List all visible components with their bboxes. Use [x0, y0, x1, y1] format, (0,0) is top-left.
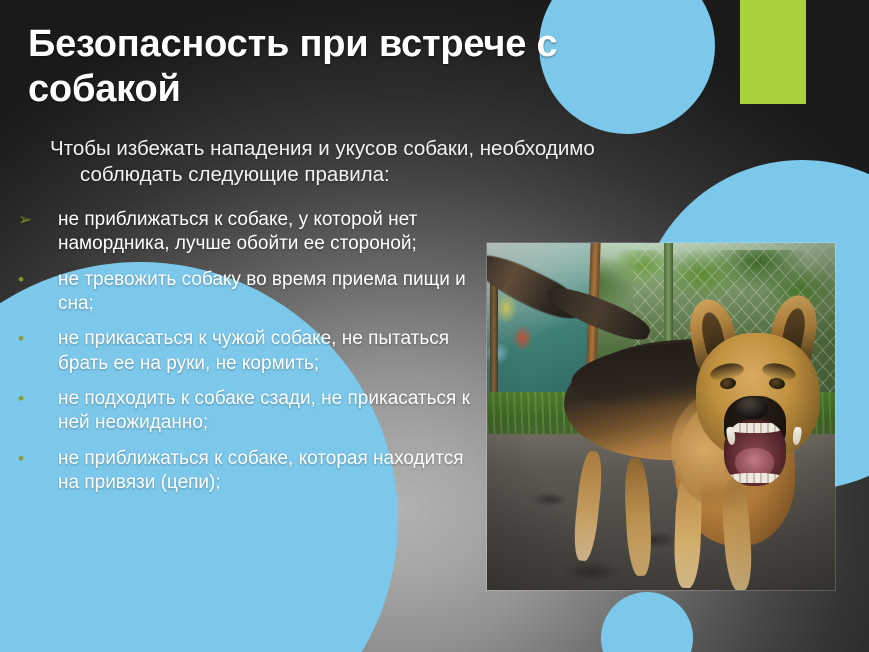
- dot-bullet-icon: •: [14, 447, 58, 472]
- dot-bullet-icon: •: [14, 327, 58, 352]
- photo-scene: [487, 243, 835, 590]
- dog-photograph: [487, 243, 835, 590]
- decorative-green-rectangle: [740, 0, 806, 104]
- arrow-bullet-icon: ➢: [14, 208, 58, 233]
- dot-bullet-icon: •: [14, 387, 58, 412]
- slide-title: Безопасность при встрече с собакой: [28, 22, 678, 112]
- rules-bullet-list: ➢ не приближаться к собаке, у которой не…: [14, 208, 476, 506]
- list-item-text: не подходить к собаке сзади, не прикасат…: [58, 387, 476, 436]
- dog-lower-teeth: [727, 473, 782, 484]
- list-item: • не тревожить собаку во время приема пи…: [14, 268, 476, 317]
- list-item-text: не приближаться к собаке, которая находи…: [58, 447, 476, 496]
- dog-nose: [736, 397, 768, 419]
- slide-subtitle: Чтобы избежать нападения и укусов собаки…: [50, 136, 710, 188]
- dot-bullet-icon: •: [14, 268, 58, 293]
- list-item-text: не приближаться к собаке, у которой нет …: [58, 208, 476, 257]
- subtitle-line-2: соблюдать следующие правила:: [50, 162, 710, 188]
- list-item: • не прикасаться к чужой собаке, не пыта…: [14, 327, 476, 376]
- list-item: • не приближаться к собаке, которая нахо…: [14, 447, 476, 496]
- list-item: ➢ не приближаться к собаке, у которой не…: [14, 208, 476, 257]
- dog-upper-teeth: [727, 423, 782, 434]
- dog-leg: [572, 450, 605, 562]
- subtitle-line-1: Чтобы избежать нападения и укусов собаки…: [50, 137, 595, 160]
- presentation-slide: Безопасность при встрече с собакой Чтобы…: [0, 0, 869, 652]
- photo-german-shepherd: [487, 243, 835, 590]
- list-item: • не подходить к собаке сзади, не прикас…: [14, 387, 476, 436]
- list-item-text: не прикасаться к чужой собаке, не пытать…: [58, 327, 476, 376]
- list-item-text: не тревожить собаку во время приема пищи…: [58, 268, 476, 317]
- dog-leg: [623, 458, 653, 577]
